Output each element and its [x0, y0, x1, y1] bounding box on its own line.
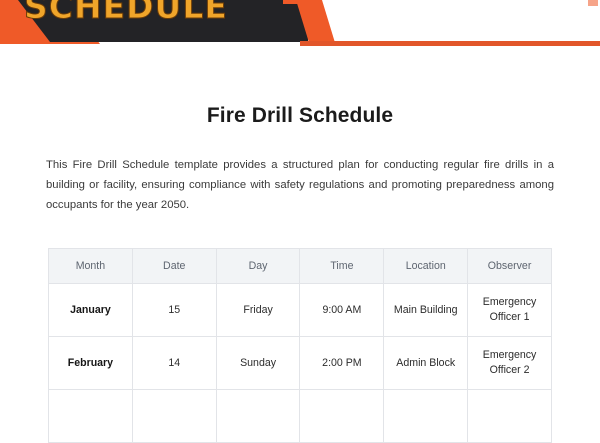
table-body: January 15 Friday 9:00 AM Main Building …: [49, 284, 552, 443]
document-body: Fire Drill Schedule This Fire Drill Sche…: [0, 50, 600, 215]
table-row: January 15 Friday 9:00 AM Main Building …: [49, 284, 552, 337]
column-header-date: Date: [132, 249, 216, 284]
cell-date: 14: [132, 337, 216, 390]
table-header-row: Month Date Day Time Location Observer: [49, 249, 552, 284]
column-header-location: Location: [384, 249, 468, 284]
cell-time: 2:00 PM: [300, 337, 384, 390]
page-title: Fire Drill Schedule: [0, 104, 600, 128]
cell-observer: Emergency Officer 2: [468, 337, 552, 390]
cell-month: February: [49, 337, 133, 390]
table-row: February 14 Sunday 2:00 PM Admin Block E…: [49, 337, 552, 390]
cell-time: [300, 390, 384, 443]
column-header-observer: Observer: [468, 249, 552, 284]
cell-time: 9:00 AM: [300, 284, 384, 337]
cell-date: 15: [132, 284, 216, 337]
cell-day: Sunday: [216, 337, 300, 390]
cell-observer: [468, 390, 552, 443]
cell-observer: Emergency Officer 1: [468, 284, 552, 337]
cell-month: [49, 390, 133, 443]
cell-month: January: [49, 284, 133, 337]
banner-corner-mark: [588, 0, 598, 6]
cell-location: [384, 390, 468, 443]
table-header: Month Date Day Time Location Observer: [49, 249, 552, 284]
table-row: [49, 390, 552, 443]
cell-location: Admin Block: [384, 337, 468, 390]
header-banner: SCHEDULE: [0, 0, 600, 50]
cell-date: [132, 390, 216, 443]
cell-day: Friday: [216, 284, 300, 337]
column-header-month: Month: [49, 249, 133, 284]
column-header-day: Day: [216, 249, 300, 284]
intro-paragraph: This Fire Drill Schedule template provid…: [46, 155, 554, 215]
cell-location: Main Building: [384, 284, 468, 337]
fire-drill-schedule-table: Month Date Day Time Location Observer Ja…: [48, 248, 552, 443]
banner-title: SCHEDULE: [24, 0, 228, 26]
banner-orange-rule: [300, 41, 600, 46]
cell-day: [216, 390, 300, 443]
column-header-time: Time: [300, 249, 384, 284]
